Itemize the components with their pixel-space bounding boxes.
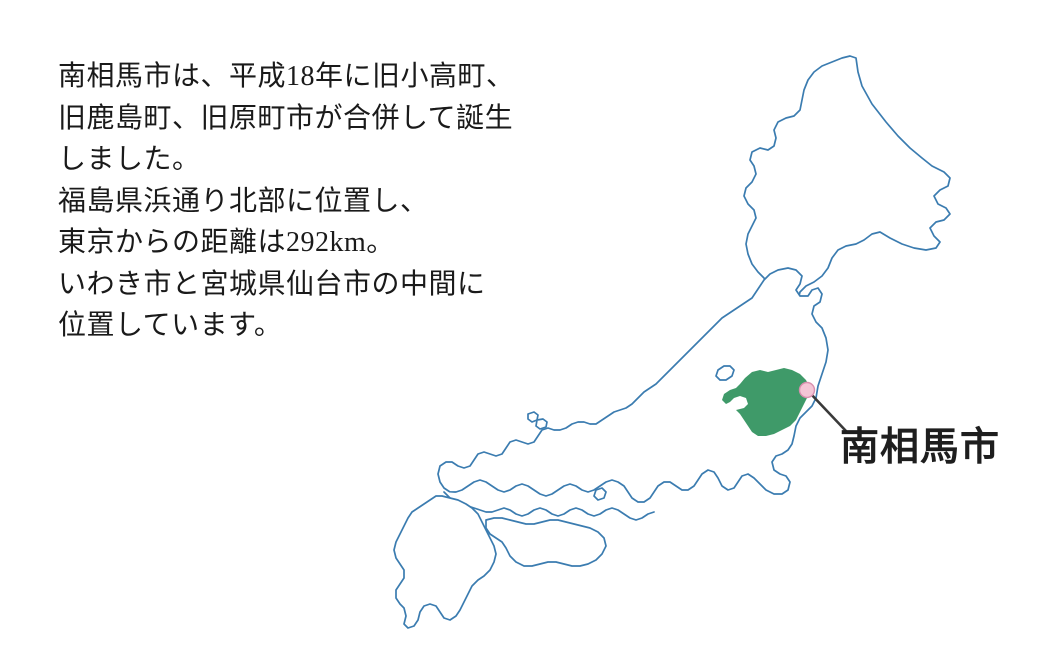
- description-line-7: 位置しています。: [58, 305, 618, 347]
- description-line-3: しました。: [58, 139, 618, 181]
- description-text-block: 南相馬市は、平成18年に旧小高町、 旧鹿島町、旧原町市が合併して誕生 しました。…: [58, 56, 618, 347]
- island-oki-2: [536, 419, 547, 429]
- map-page: 南相馬市は、平成18年に旧小高町、 旧鹿島町、旧原町市が合併して誕生 しました。…: [0, 0, 1040, 646]
- island-kyushu: [394, 496, 496, 628]
- island-awaji: [594, 488, 606, 500]
- minamisoma-city-label: 南相馬市: [840, 428, 1000, 469]
- description-line-4: 福島県浜通り北部に位置し、: [58, 181, 618, 223]
- description-line-2: 旧鹿島町、旧原町市が合併して誕生: [58, 98, 618, 140]
- island-shikoku: [486, 518, 606, 566]
- description-line-1: 南相馬市は、平成18年に旧小高町、: [58, 56, 618, 98]
- description-line-6: いわき市と宮城県仙台市の中間に: [58, 264, 618, 306]
- minamisoma-marker-dot: [800, 383, 815, 398]
- island-hokkaido: [744, 56, 950, 308]
- description-line-5: 東京からの距離は292km。: [58, 222, 618, 264]
